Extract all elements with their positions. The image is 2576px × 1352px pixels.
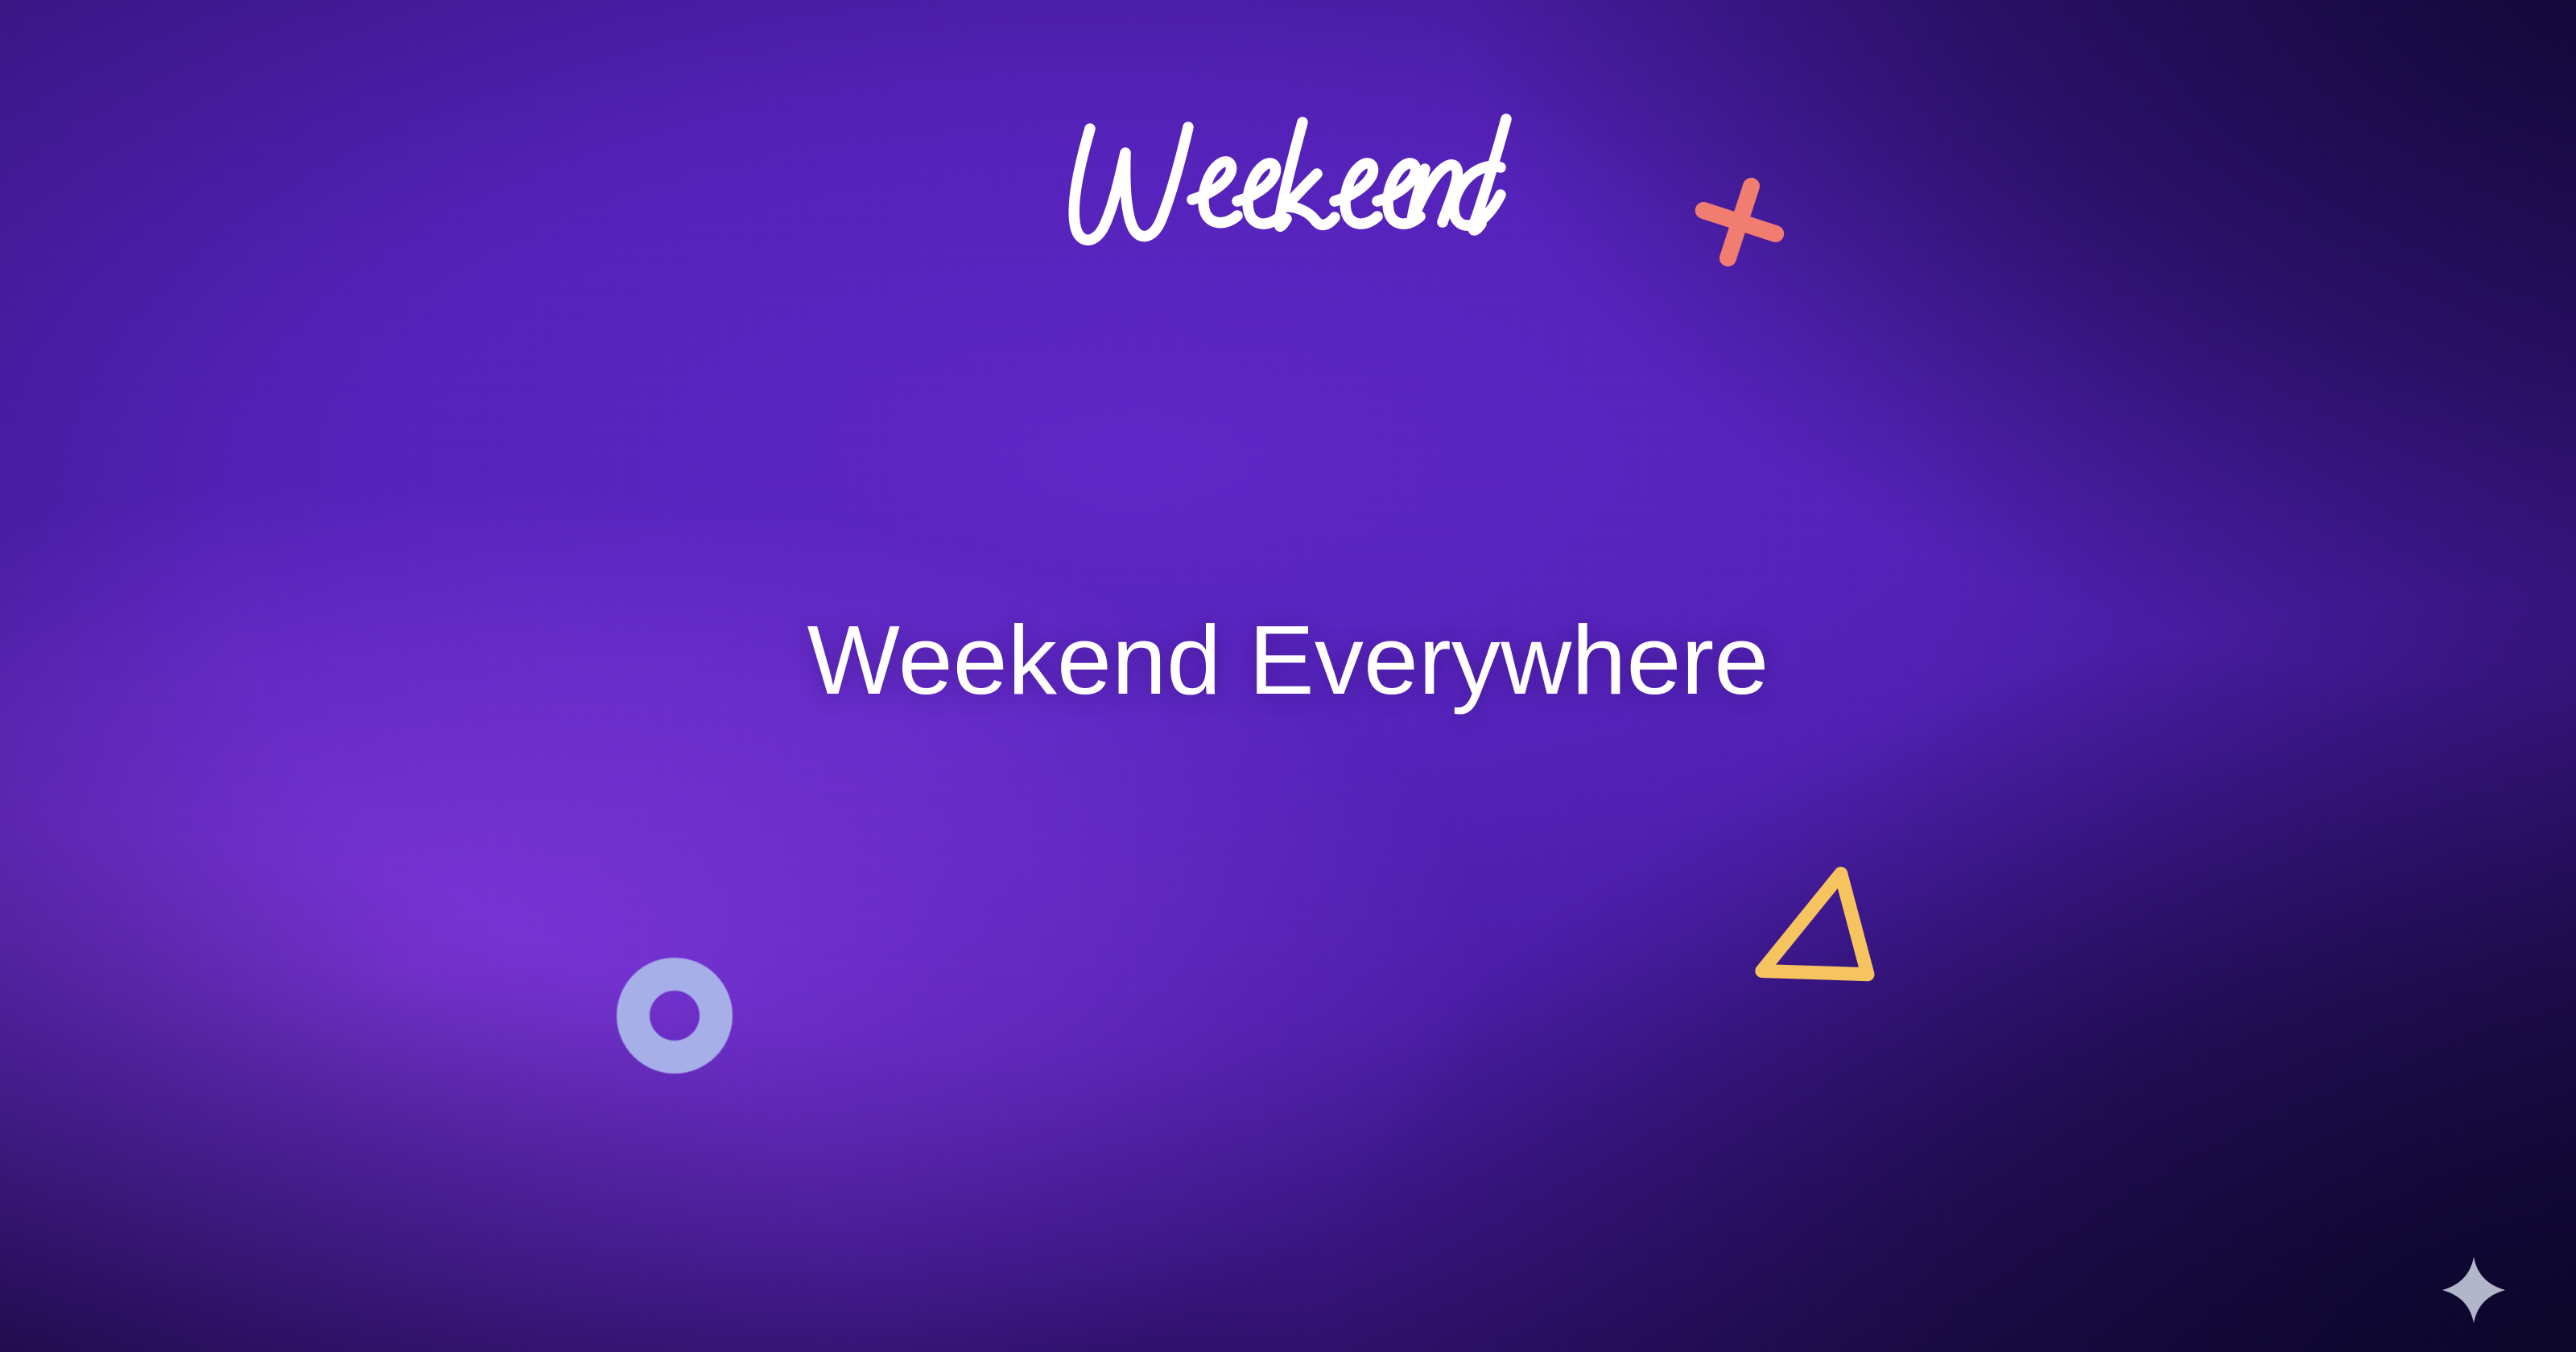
triangle-icon <box>1739 856 1881 1006</box>
cross-icon <box>1674 157 1804 286</box>
ring-icon <box>617 958 733 1074</box>
sparkle-icon <box>2441 1255 2507 1325</box>
brand-logo-weekend: Weekend <box>1061 105 1528 274</box>
slide-canvas: Weekend <box>0 0 2576 1352</box>
page-title: Weekend Everywhere <box>0 608 2576 711</box>
